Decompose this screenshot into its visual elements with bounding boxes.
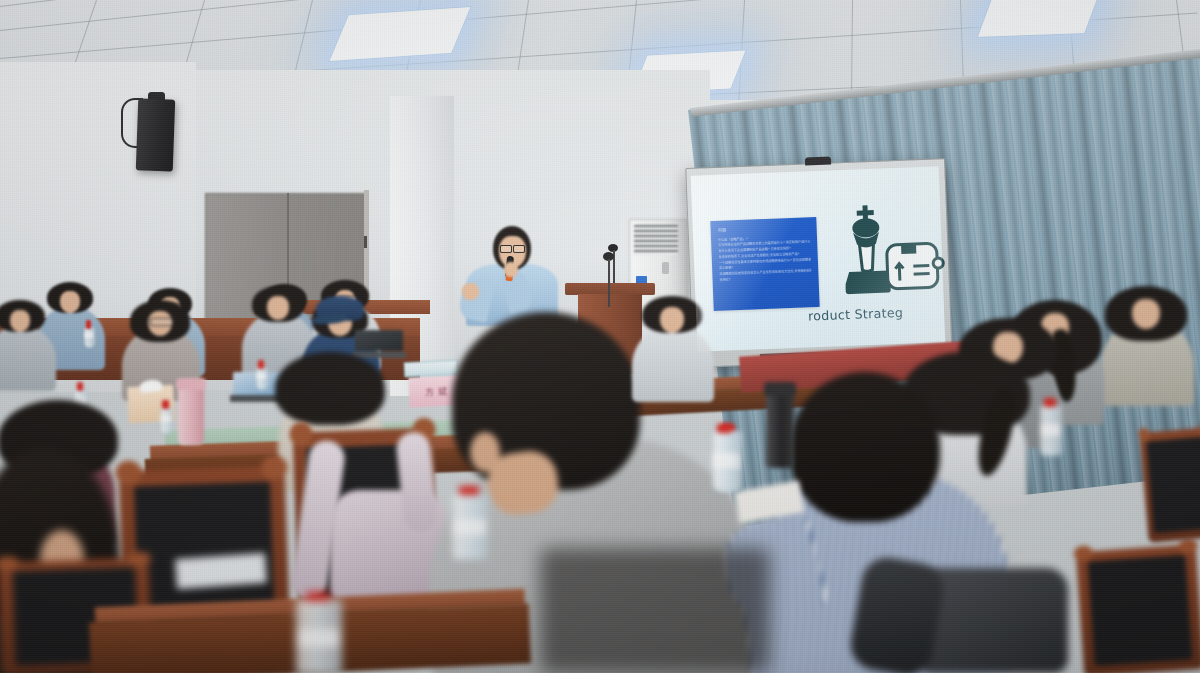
chair[interactable] <box>1076 544 1200 673</box>
chair-cushion <box>1087 555 1192 667</box>
water-bottle <box>452 486 486 558</box>
thermos-lid <box>764 382 796 396</box>
slide-graphic <box>831 201 947 315</box>
water-bottle <box>712 424 736 488</box>
chess-king-and-box-icon <box>831 201 947 315</box>
desk-shadow <box>540 548 770 673</box>
thermos <box>766 390 794 468</box>
notebook <box>175 553 267 589</box>
bottle-cap-icon <box>717 424 730 433</box>
attendee-hair <box>790 372 940 522</box>
bottle-label <box>296 629 340 647</box>
bottle-label <box>712 453 736 467</box>
slide-text-panel: 问题 什么是「战略产品」? 它与传统企业的产品战略在本质上的差异是什么? 用定制… <box>710 217 819 311</box>
chair-cushion <box>1146 436 1200 533</box>
bottle-cap-icon <box>459 486 478 495</box>
classroom-scene: 问题 什么是「战略产品」? 它与传统企业的产品战略在本质上的差异是什么? 用定制… <box>0 0 1200 673</box>
screen-camera-icon <box>805 157 831 166</box>
bottle-cap-icon <box>1044 398 1055 407</box>
water-bottle <box>1040 398 1060 454</box>
chair-knob-icon <box>1137 427 1149 441</box>
bottle-label <box>452 519 486 535</box>
bottle-cap-icon <box>306 592 331 601</box>
water-bottle <box>296 592 340 673</box>
chair[interactable] <box>1139 427 1200 543</box>
bottle-label <box>1040 424 1060 436</box>
